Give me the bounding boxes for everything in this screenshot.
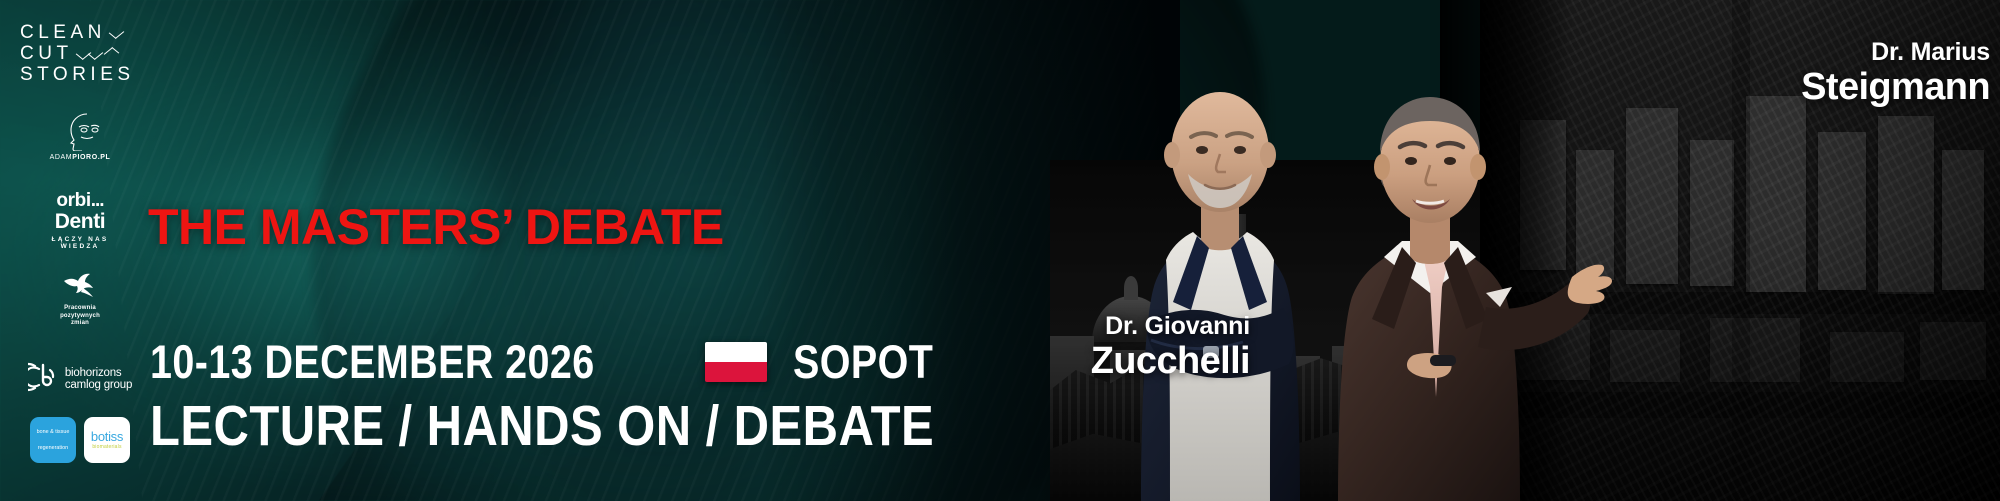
orbidenti-tagline-1: ŁĄCZY NAS (52, 236, 109, 243)
speaker-portrait-steigmann (1290, 55, 1620, 501)
orbidenti-tagline-2: WIEDZA (52, 243, 109, 250)
speaker-surname-zucchelli: Zucchelli (930, 341, 1250, 382)
sponsor-column: CLEAN CUT STORIES (0, 0, 160, 501)
sponsor-logo-botiss[interactable]: botiss biomaterials (84, 417, 130, 463)
brand-logo-line-2: CUT (20, 43, 73, 64)
face-profile-icon (57, 111, 103, 151)
sponsor-logo-biohorizons[interactable]: biohorizons camlog group (28, 362, 132, 397)
event-format: LECTURE / HANDS ON / DEBATE (150, 398, 934, 455)
event-date: 10-13 DECEMBER 2026 (150, 338, 595, 385)
chevron-up-icon (106, 49, 117, 58)
event-city: SOPOT (793, 338, 933, 385)
pracownia-line-3: zmian (60, 320, 100, 328)
sponsor-logo-adampioro[interactable]: ADAMPIORO.PL (50, 111, 111, 161)
sponsor-label-pracownia: Pracownia pozytywnych zmian (60, 305, 100, 328)
sponsor-label-biohorizons: biohorizons camlog group (65, 367, 132, 392)
speaker-title-steigmann: Dr. Marius (1640, 38, 1990, 67)
brand-logo-line-3: STORIES (20, 64, 135, 85)
pracownia-line-2: pozytywnych (60, 313, 100, 321)
biohorizons-line-2: camlog group (65, 379, 132, 392)
speaker-name-zucchelli: Dr. Giovanni Zucchelli (930, 312, 1250, 382)
hummingbird-icon (60, 272, 100, 303)
sponsor-logo-pracownia[interactable]: Pracownia pozytywnych zmian (60, 272, 100, 328)
orbidenti-line-2: Denti (52, 211, 109, 232)
botiss-subtitle: biomaterials (91, 444, 123, 450)
bone-tissue-line-1: bone & tissue (37, 428, 70, 436)
orbidenti-line-1: orbi (56, 190, 90, 211)
event-banner: CLEAN CUT STORIES (0, 0, 2000, 501)
poland-flag-icon (705, 342, 767, 382)
pracownia-line-1: Pracownia (60, 305, 100, 313)
sponsor-logo-boxes: bone & tissue regeneration botiss biomat… (30, 417, 130, 463)
page-title: THE MASTERS’ DEBATE (148, 198, 724, 256)
speaker-surname-steigmann: Steigmann (1640, 67, 1990, 108)
biohorizons-spiral-icon (28, 362, 58, 397)
bone-tissue-line-2: regeneration (37, 444, 70, 452)
chevron-down-icon (111, 28, 122, 37)
sponsor-label-adampioro: ADAMPIORO.PL (50, 154, 111, 161)
biohorizons-line-1: biohorizons (65, 367, 132, 380)
brand-logo-line-1: CLEAN (20, 22, 106, 43)
brand-logo-clean-cut-stories[interactable]: CLEAN CUT STORIES (20, 22, 140, 85)
chevron-zigzag-icon (78, 49, 101, 58)
speaker-title-zucchelli: Dr. Giovanni (930, 312, 1250, 341)
botiss-wordmark: botiss (91, 430, 123, 443)
event-info-line: 10-13 DECEMBER 2026 SOPOT (150, 338, 960, 385)
sponsor-logo-bone-tissue[interactable]: bone & tissue regeneration (30, 417, 76, 463)
orbidenti-dots: ... (91, 190, 104, 211)
speaker-name-steigmann: Dr. Marius Steigmann (1640, 38, 1990, 108)
sponsor-logo-orbidenti[interactable]: orbi... Denti ŁĄCZY NAS WIEDZA (52, 191, 109, 250)
